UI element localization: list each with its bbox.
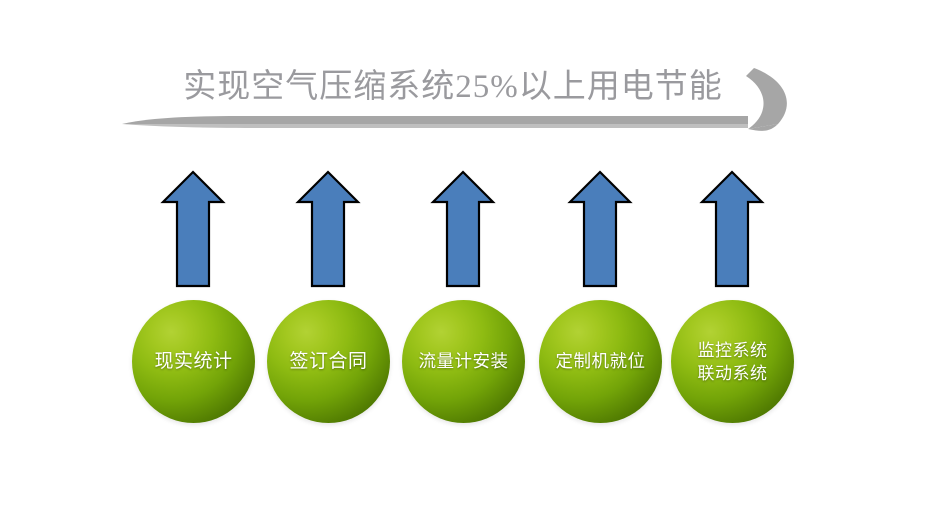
up-arrow-1 (161, 170, 225, 288)
step-circle-1[interactable]: 现实统计 (132, 300, 255, 423)
up-arrow-2 (296, 170, 360, 288)
banner-underline-shadow (122, 124, 748, 128)
up-arrow-shape-1 (163, 172, 223, 286)
up-arrow-shape-4 (570, 172, 630, 286)
up-arrow-4 (568, 170, 632, 288)
up-arrow-shape-2 (298, 172, 358, 286)
up-arrow-shape-3 (433, 172, 493, 286)
step-circle-label-3: 流量计安装 (413, 349, 515, 374)
step-circle-label-5: 监控系统 联动系统 (692, 339, 774, 385)
step-circle-label-4: 定制机就位 (550, 349, 652, 374)
step-circle-2[interactable]: 签订合同 (267, 300, 390, 423)
up-arrow-shape-5 (702, 172, 762, 286)
title-banner: 实现空气压缩系统25%以上用电节能 (118, 28, 818, 138)
step-circle-4[interactable]: 定制机就位 (539, 300, 662, 423)
up-arrow-3 (431, 170, 495, 288)
up-arrow-5 (700, 170, 764, 288)
step-circle-3[interactable]: 流量计安装 (402, 300, 525, 423)
slide-canvas: 实现空气压缩系统25%以上用电节能 现实统计 签订合同 流量计安装 (0, 0, 945, 529)
step-circle-label-1: 现实统计 (148, 349, 238, 374)
step-circle-label-2: 签订合同 (283, 349, 373, 374)
page-title: 实现空气压缩系统25%以上用电节能 (153, 66, 753, 108)
banner-underline (122, 116, 748, 124)
step-circle-5[interactable]: 监控系统 联动系统 (671, 300, 794, 423)
